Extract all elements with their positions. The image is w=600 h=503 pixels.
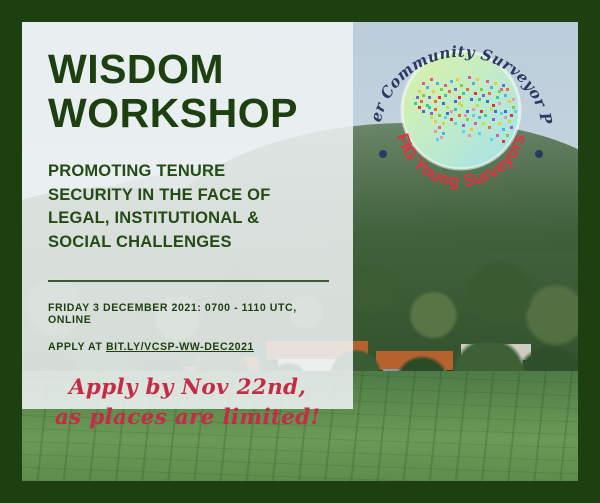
deadline-line1: Apply by Nov 22nd, [48,373,327,403]
divider [48,280,329,282]
separator-dot-right [535,150,543,158]
event-datetime: FRIDAY 3 DECEMBER 2021: 0700 - 1110 UTC,… [48,302,327,326]
deadline-callout: Apply by Nov 22nd, as places are limited… [48,373,327,433]
apply-prefix: APPLY AT [48,341,106,353]
subtitle-line4: SOCIAL CHALLENGES [48,231,327,254]
apply-link[interactable]: BIT.LY/VCSP-WW-DEC2021 [106,341,254,353]
page-title-line2: WORKSHOP [48,92,327,134]
vcsp-logo: Volunteer Community Surveyor Program FIG… [370,22,552,204]
subtitle-line2: SECURITY IN THE FACE OF [48,184,327,207]
subtitle-line1: PROMOTING TENURE [48,160,327,183]
separator-dot-left [379,150,387,158]
apply-line: APPLY AT BIT.LY/VCSP-WW-DEC2021 [48,341,327,353]
page-title-line1: WISDOM [48,48,327,90]
deadline-line2: as places are limited! [48,403,327,433]
subtitle: PROMOTING TENURE SECURITY IN THE FACE OF… [48,160,327,254]
text-panel: WISDOM WORKSHOP PROMOTING TENURE SECURIT… [22,22,353,409]
poster-canvas: Volunteer Community Surveyor Program FIG… [0,0,600,503]
subtitle-line3: LEGAL, INSTITUTIONAL & [48,207,327,230]
